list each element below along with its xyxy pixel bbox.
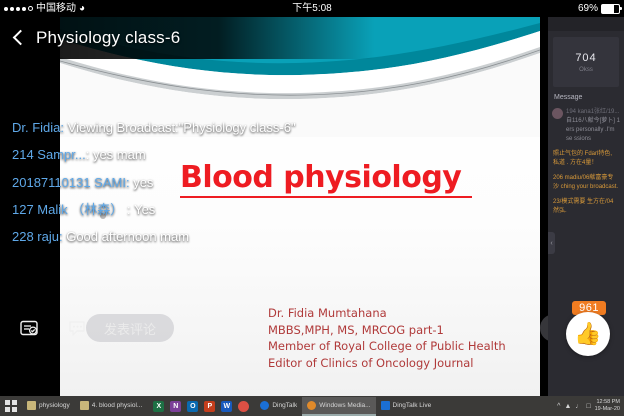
back-chevron-icon[interactable] — [10, 30, 26, 46]
battery-icon — [601, 4, 620, 14]
chat-message: 214 Sampr...: yes mam — [12, 147, 297, 163]
action-center-icon[interactable]: □ — [586, 403, 590, 410]
panel-notice-1: 照止气包的 Fdarl特色, 私道 . 方在4量！ — [548, 147, 624, 171]
panel-notice-2: 206 madiu/06献富豪专沙 ching your broadcast. — [548, 171, 624, 195]
clock-date: 19-Mar-20 — [595, 406, 620, 412]
excel-icon[interactable]: X — [153, 401, 164, 412]
credit-line: Editor of Clinics of Oncology Journal — [268, 355, 506, 372]
ios-status-bar: 中国移动 ◕ 下午5:08 69% — [0, 0, 624, 17]
taskbar-window-label: 4. blood physiol... — [92, 402, 143, 409]
panel-message-body: 自116八献今[萝卜] 1 ers personally .I'm se ssi… — [566, 118, 620, 142]
chat-message: 20187110131 SAMI: yes — [12, 175, 297, 191]
card-check-icon[interactable] — [14, 313, 44, 343]
dingtalk-live-icon — [381, 401, 390, 410]
taskbar-task-dingtalk[interactable]: DingTalk — [255, 397, 302, 416]
post-comment-button[interactable]: 发表评论 — [86, 314, 174, 342]
navigation-bar: Physiology class-6 — [0, 17, 624, 59]
show-hidden-icons[interactable]: ^ — [557, 403, 560, 410]
taskbar-task-label: DingTalk — [272, 402, 297, 409]
battery-percent: 69% — [578, 0, 598, 17]
chat-user: 20187110131 SAMI: — [12, 175, 130, 190]
word-icon[interactable]: W — [221, 401, 232, 412]
presenter-credits: Dr. Fidia Mumtahana MBBS,MPH, MS, MRCOG … — [268, 305, 506, 372]
thumbs-up-icon: 👍 — [574, 323, 601, 345]
panel-message-item[interactable]: 194 kana1张红/19... 自116八献今[萝卜] 1 ers pers… — [548, 105, 624, 147]
windows-start-icon[interactable] — [0, 396, 22, 416]
dingtalk-icon — [260, 401, 269, 410]
messages-header: Message — [554, 94, 624, 101]
taskbar-window-physiology[interactable]: physiology — [22, 397, 75, 416]
credit-line: Member of Royal College of Public Health — [268, 338, 506, 355]
chat-message: 127 Malik （林森） : Yes — [12, 202, 297, 218]
powerpoint-icon[interactable]: P — [204, 401, 215, 412]
chat-user: 214 Sampr... — [12, 147, 86, 162]
taskbar-task-label: DingTalk Live — [393, 402, 432, 409]
chat-text: yes — [130, 175, 154, 190]
chat-text: : yes mam — [86, 147, 146, 162]
taskbar-window-blood-physiology[interactable]: 4. blood physiol... — [75, 397, 148, 416]
chat-message: Dr. Fidia: Viewing Broadcast:"Physiology… — [12, 120, 297, 136]
chrome-icon[interactable] — [238, 401, 249, 412]
taskbar-task-windows-media[interactable]: Windows Media... — [302, 397, 375, 416]
chat-text: Good afternoon mam — [63, 229, 189, 244]
outlook-icon[interactable]: O — [187, 401, 198, 412]
windows-taskbar: physiology 4. blood physiol... X N O P W… — [0, 396, 624, 416]
taskbar-task-label: Windows Media... — [319, 402, 370, 409]
chat-overlay: Dr. Fidia: Viewing Broadcast:"Physiology… — [12, 120, 302, 256]
comment-bubble-icon[interactable] — [62, 313, 92, 343]
onenote-icon[interactable]: N — [170, 401, 181, 412]
credit-line: Dr. Fidia Mumtahana — [268, 305, 506, 322]
taskbar-pinned-apps: X N O P W — [147, 401, 255, 412]
panel-collapse-button[interactable]: ‹ — [548, 232, 555, 254]
clock-time: 12:58 PM — [596, 399, 620, 405]
taskbar-window-label: physiology — [39, 402, 70, 409]
volume-icon[interactable]: ♩ — [575, 403, 582, 410]
panel-message-name: 194 kana1张红/19... — [566, 109, 619, 115]
chat-text: Viewing Broadcast:"Physiology class-6" — [64, 120, 296, 135]
chat-user: 127 Malik （林森） — [12, 202, 123, 217]
chat-user: Dr. Fidia: — [12, 120, 64, 135]
system-tray: ^ ▲ ♩ □ 12:58 PM 19-Mar-20 — [557, 399, 624, 413]
viewer-count-label: Okss — [579, 67, 593, 73]
taskbar-clock[interactable]: 12:58 PM 19-Mar-20 — [595, 399, 620, 413]
credit-line: MBBS,MPH, MS, MRCOG part-1 — [268, 322, 506, 339]
folder-icon — [27, 401, 36, 410]
media-player-icon — [307, 401, 316, 410]
like-button[interactable]: 👍 — [566, 312, 610, 356]
avatar — [552, 108, 563, 119]
network-icon[interactable]: ▲ — [564, 403, 571, 410]
chat-text: : Yes — [123, 202, 155, 217]
taskbar-task-dingtalk-live[interactable]: DingTalk Live — [376, 397, 437, 416]
chat-user: 228 raju: — [12, 229, 63, 244]
chat-message: 228 raju: Good afternoon mam — [12, 229, 297, 245]
panel-notice-3: 23/模式需要 生方在/04然弘. — [548, 195, 624, 219]
phone-screen: 704 Okss Message 194 kana1张红/19... 自116八… — [0, 0, 624, 416]
page-title: Physiology class-6 — [36, 28, 180, 48]
folder-icon — [80, 401, 89, 410]
status-time: 下午5:08 — [0, 0, 624, 17]
